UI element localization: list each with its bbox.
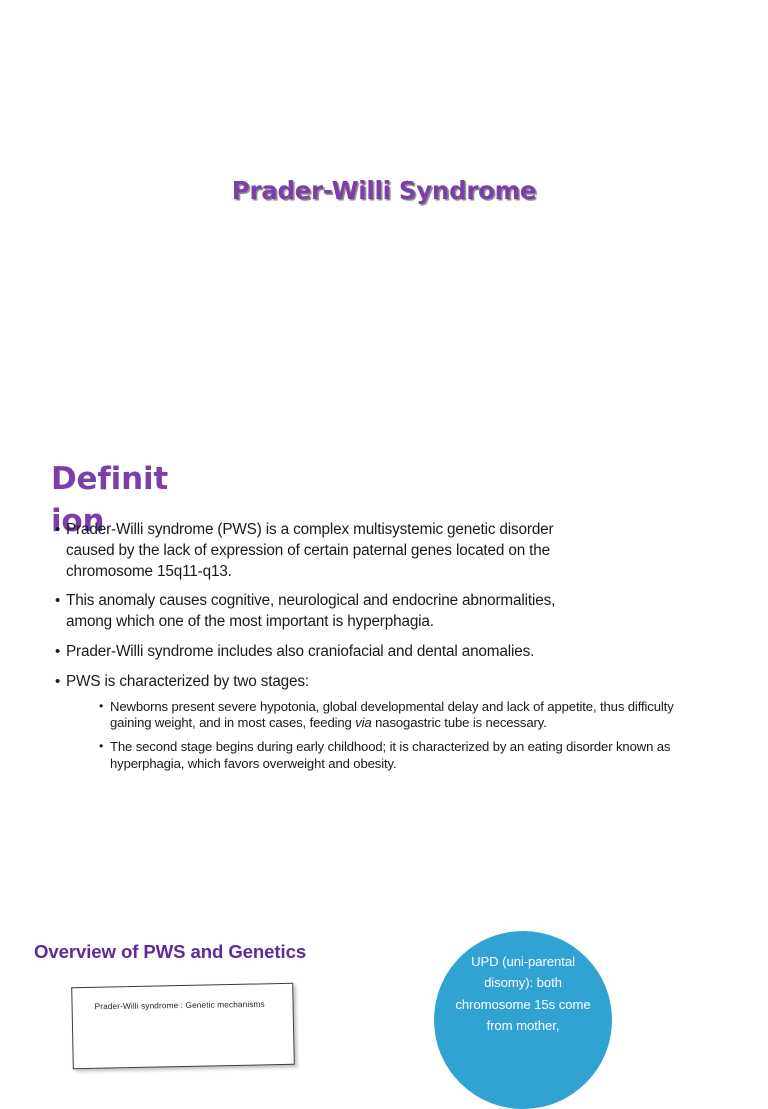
sub-bullet-text-tail: nasogastric tube is necessary. [372,715,547,730]
definition-bullet-list: • Prader-Willi syndrome (PWS) is a compl… [50,520,700,772]
list-item: • The second stage begins during early c… [95,739,700,772]
bullet-line: Prader-Willi syndrome includes also cran… [66,642,700,663]
list-item: • PWS is characterized by two stages: • … [50,672,700,772]
definition-body: • Prader-Willi syndrome (PWS) is a compl… [50,520,700,781]
genetic-mechanisms-diagram: Prader-Willi syndrome : Genetic mechanis… [71,983,295,1069]
bullet-icon: • [99,738,103,754]
bullet-line: PWS is characterized by two stages: [66,672,700,693]
bullet-icon: • [55,520,60,539]
upd-callout-text: UPD (uni-parental disomy): both chromoso… [446,951,600,1036]
overview-heading: Overview of PWS and Genetics [34,941,306,963]
bullet-line: chromosome 15q11-q13. [66,562,700,583]
bullet-icon: • [55,672,60,691]
bullet-line: This anomaly causes cognitive, neurologi… [66,591,700,612]
bullet-icon: • [55,591,60,610]
list-item: • Prader-Willi syndrome includes also cr… [50,642,700,663]
bullet-line: Prader-Willi syndrome (PWS) is a complex… [66,520,700,541]
list-item: • Newborns present severe hypotonia, glo… [95,699,700,732]
definition-sub-bullet-list: • Newborns present severe hypotonia, glo… [66,699,700,773]
diagram-caption: Prader-Willi syndrome : Genetic mechanis… [95,999,265,1011]
page-title: Prader-Willi Syndrome [0,176,768,205]
sub-bullet-text: The second stage begins during early chi… [110,739,670,770]
list-item: • Prader-Willi syndrome (PWS) is a compl… [50,520,700,582]
slide-page: Prader-Willi Syndrome Definition • Prade… [0,0,768,1024]
bullet-line: caused by the lack of expression of cert… [66,541,700,562]
upd-callout-circle: UPD (uni-parental disomy): both chromoso… [434,931,612,1109]
bullet-icon: • [99,698,103,714]
bullet-line: among which one of the most important is… [66,612,700,633]
sub-bullet-italic: via [355,715,371,730]
bullet-icon: • [55,642,60,661]
list-item: • This anomaly causes cognitive, neurolo… [50,591,700,633]
